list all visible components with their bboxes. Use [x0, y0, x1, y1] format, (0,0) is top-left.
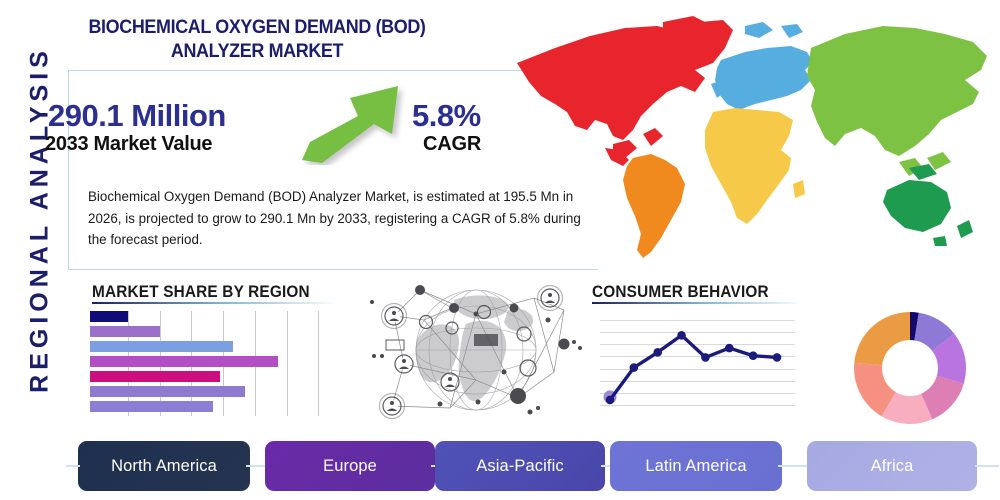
- market-value-figure: 290.1 Million: [48, 98, 226, 134]
- section-rule-market-share: [92, 302, 332, 304]
- line-chart-marker: [653, 348, 662, 357]
- map-region-south-america: [623, 154, 685, 258]
- cagr-label: CAGR: [423, 133, 481, 156]
- global-network-globe-icon: [358, 276, 590, 428]
- map-region-oceania: [883, 180, 951, 232]
- bar-chart-bar: [90, 356, 278, 367]
- line-chart-marker: [701, 353, 710, 362]
- region-tab-north-america[interactable]: North America: [78, 441, 250, 491]
- bar-chart-bar: [90, 326, 160, 337]
- bar-fill: [90, 341, 233, 352]
- tab-connector: [66, 465, 80, 467]
- bar-fill: [90, 356, 278, 367]
- region-tab-label: Latin America: [645, 457, 746, 476]
- region-tab-asia-pacific[interactable]: Asia-Pacific: [435, 441, 605, 491]
- region-tab-label: Europe: [323, 457, 377, 476]
- map-region-africa: [705, 108, 793, 224]
- side-label-regional-analysis: REGIONAL ANALYSIS: [26, 10, 55, 430]
- line-chart-marker: [749, 351, 758, 360]
- bar-fill: [90, 326, 160, 337]
- region-tab-label: Asia-Pacific: [476, 457, 563, 476]
- growth-arrow-icon: [300, 80, 420, 165]
- regional-split-donut-chart: [850, 308, 970, 428]
- world-map-graphic: [495, 8, 995, 270]
- line-chart-marker: [606, 396, 615, 405]
- bar-chart-gridline: [318, 311, 319, 416]
- map-region-asia: [807, 26, 987, 156]
- bar-chart-bar: [90, 341, 233, 352]
- bar-fill: [90, 371, 220, 382]
- bar-fill: [90, 401, 213, 412]
- region-tab-europe[interactable]: Europe: [265, 441, 435, 491]
- bar-chart-bar: [90, 311, 128, 322]
- consumer-behavior-line-chart: [600, 312, 795, 415]
- market-share-bar-chart: [90, 311, 355, 416]
- bar-fill: [90, 386, 245, 397]
- tab-connector: [975, 465, 999, 467]
- line-chart-marker: [630, 363, 639, 372]
- cagr-figure: 5.8%: [412, 98, 481, 134]
- bar-chart-bar: [90, 386, 245, 397]
- line-chart-marker: [677, 331, 686, 340]
- region-tab-label: North America: [111, 457, 217, 476]
- bar-chart-bar: [90, 371, 220, 382]
- line-chart-series: [600, 312, 795, 415]
- section-rule-consumer-behavior: [592, 302, 797, 304]
- infographic-canvas: REGIONAL ANALYSIS BIOCHEMICAL OXYGEN DEM…: [0, 0, 1000, 500]
- section-title-market-share: MARKET SHARE BY REGION: [92, 283, 310, 302]
- section-title-consumer-behavior: CONSUMER BEHAVIOR: [592, 283, 769, 302]
- bar-chart-bar: [90, 401, 213, 412]
- donut-slice: [854, 312, 910, 365]
- bar-chart-gridline: [287, 311, 288, 416]
- line-chart-marker: [725, 344, 734, 353]
- region-tab-label: Africa: [871, 457, 914, 476]
- bar-fill: [90, 311, 128, 322]
- map-region-europe: [715, 46, 813, 110]
- page-title: BIOCHEMICAL OXYGEN DEMAND (BOD) ANALYZER…: [41, 16, 473, 64]
- region-tab-latin-america[interactable]: Latin America: [610, 441, 782, 491]
- region-tabs: North AmericaEuropeAsia-PacificLatin Ame…: [78, 441, 988, 491]
- line-chart-marker: [773, 353, 782, 362]
- market-value-label: 2033 Market Value: [45, 133, 212, 156]
- region-tab-africa[interactable]: Africa: [807, 441, 977, 491]
